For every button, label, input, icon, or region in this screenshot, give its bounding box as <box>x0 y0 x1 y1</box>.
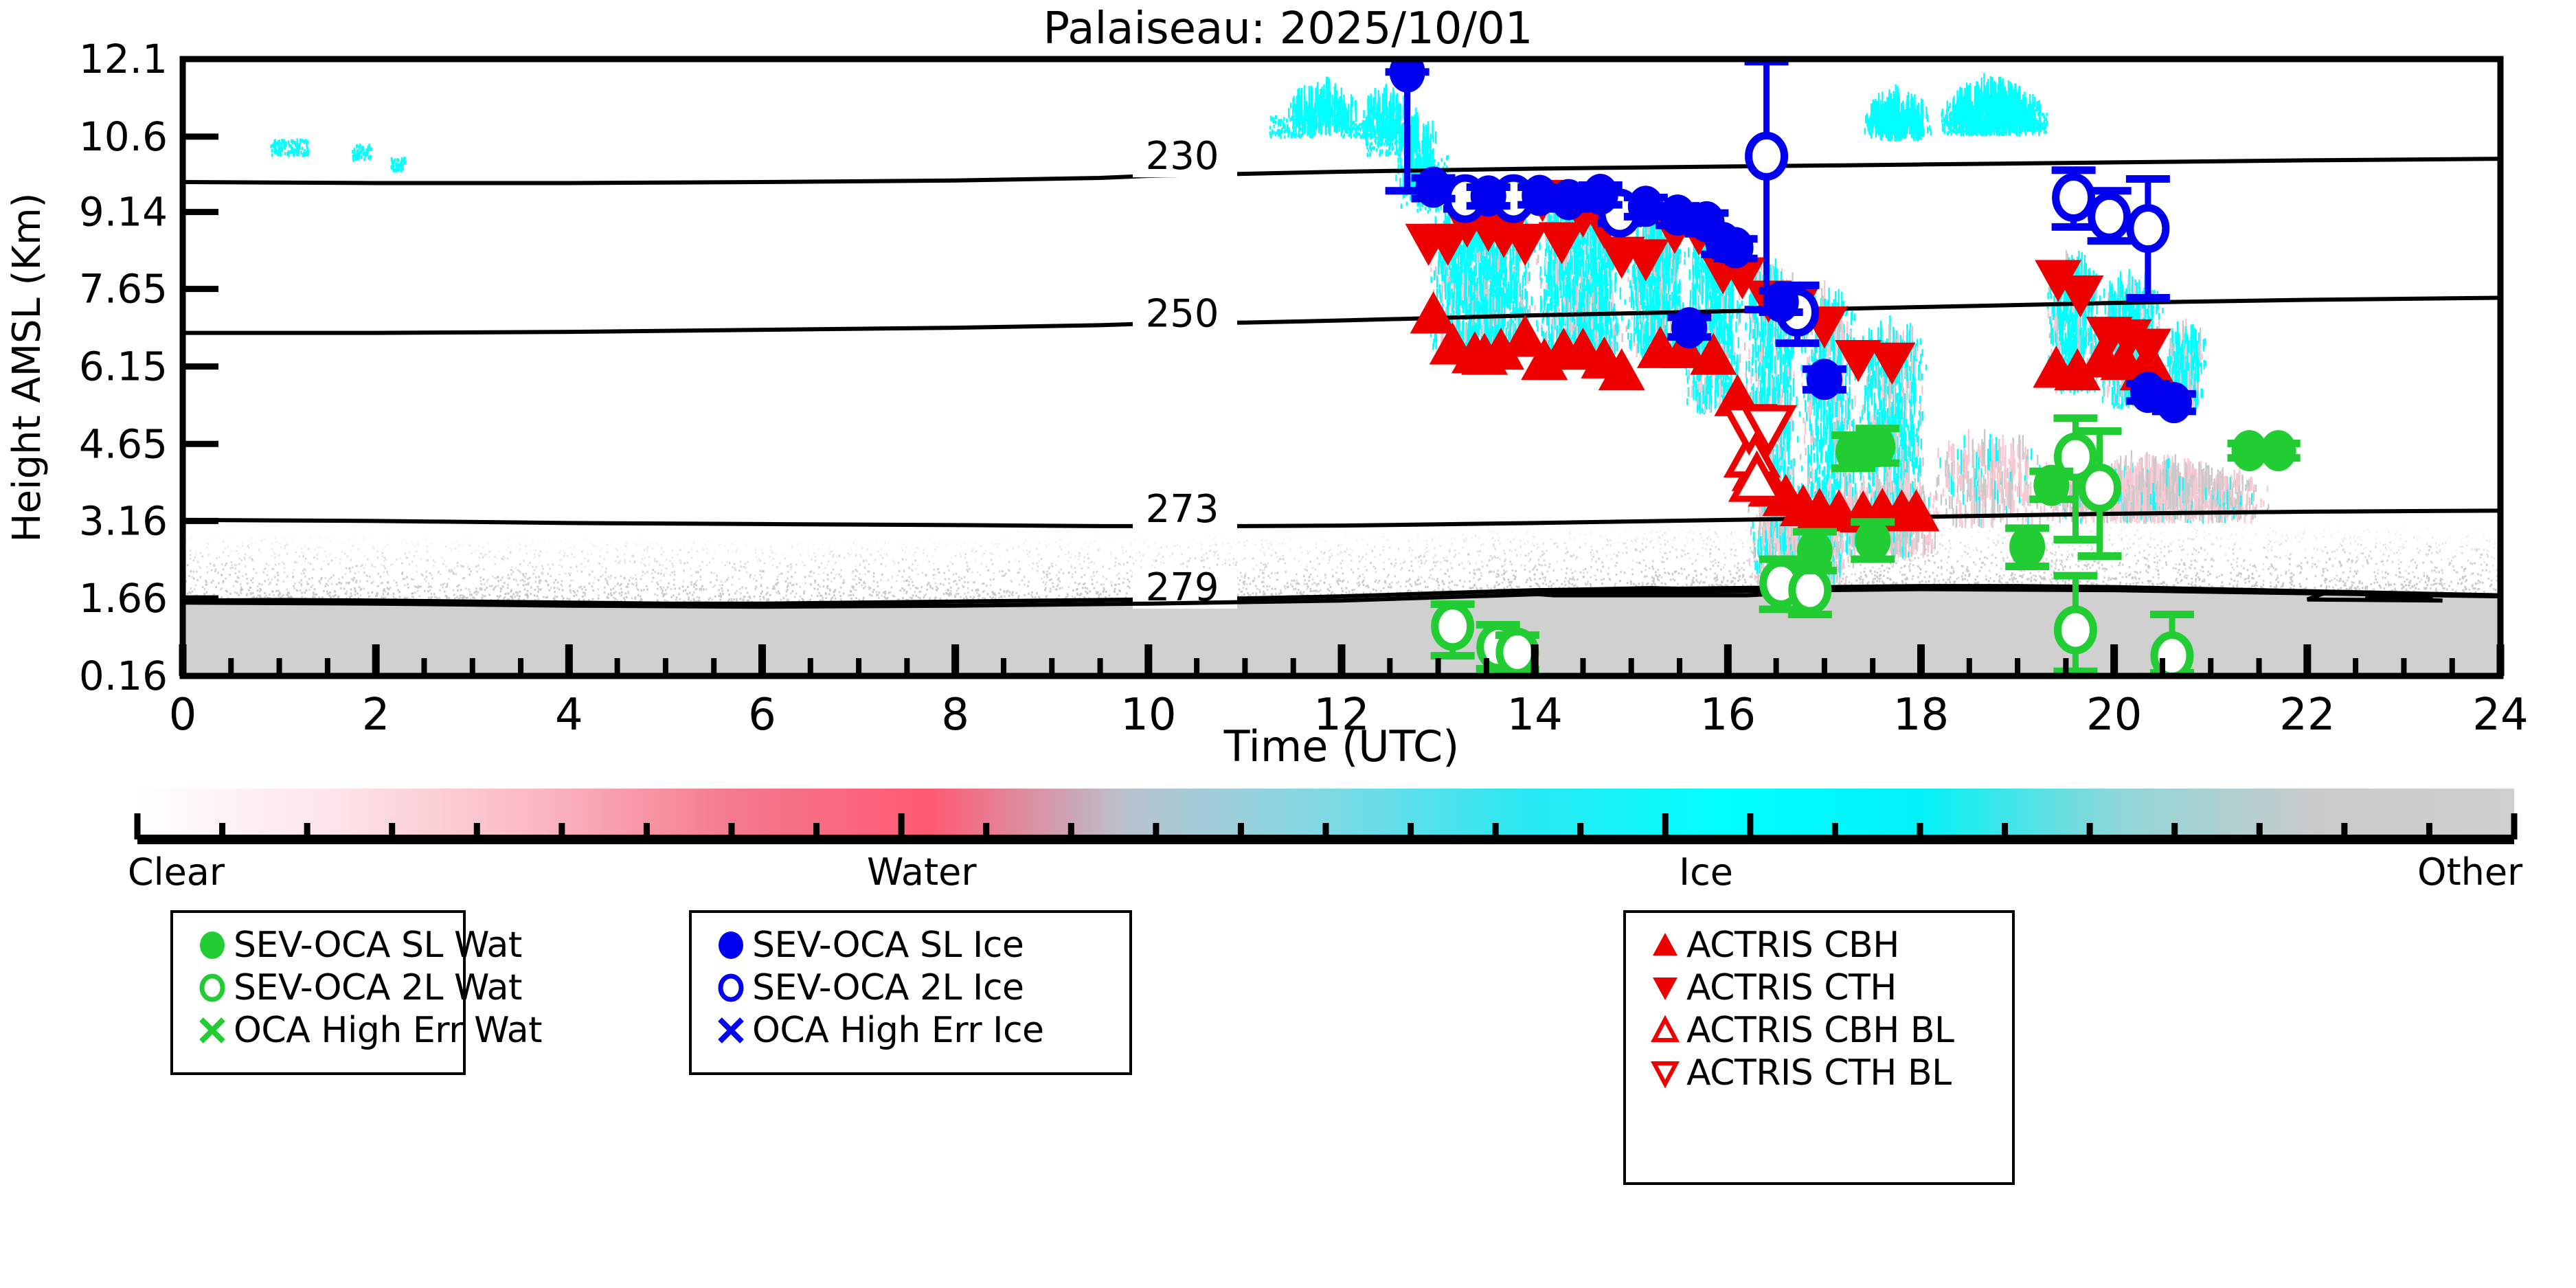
x-cross-icon <box>195 1013 229 1048</box>
legend-water: SEV-OCA SL Wat SEV-OCA 2L Wat OCA High E… <box>170 910 466 1075</box>
data-point-marker <box>1763 281 1799 322</box>
x-cross-icon <box>714 1013 748 1048</box>
x-tick-label: 14 <box>1506 690 1562 741</box>
x-tick-label: 0 <box>169 690 197 741</box>
y-tick-label: 12.1 <box>79 36 168 82</box>
open-down-triangle-icon <box>1648 1056 1682 1090</box>
filled-circle-icon <box>195 928 229 962</box>
legend-item: SEV-OCA SL Wat <box>173 924 463 967</box>
data-point-marker <box>2033 464 2069 506</box>
data-point-marker <box>1855 520 1890 561</box>
colorbar <box>0 783 2576 920</box>
legend-actris: ACTRIS CBH ACTRIS CTH ACTRIS CBH BL ACTR… <box>1623 910 2015 1185</box>
legend-item-label: ACTRIS CBH <box>1686 925 1899 966</box>
y-tick-label: 7.65 <box>79 266 168 313</box>
data-point-marker <box>2130 208 2166 249</box>
figure-canvas: Palaiseau: 2025/10/01 230250273279 0.161… <box>0 0 2576 1288</box>
y-axis-label: Height AMSL (Km) <box>5 192 49 542</box>
data-point-marker <box>1500 631 1535 673</box>
data-point-marker <box>1860 426 1895 467</box>
legend-item-label: ACTRIS CTH <box>1686 967 1897 1008</box>
data-point-marker <box>1792 569 1828 611</box>
y-tick-label: 6.15 <box>79 343 168 389</box>
legend-item-label: OCA High Err Wat <box>234 1010 542 1051</box>
x-tick-label: 22 <box>2279 690 2335 741</box>
filled-up-triangle-icon <box>1648 928 1682 962</box>
x-tick-label: 16 <box>1700 690 1756 741</box>
data-point-marker <box>2156 382 2192 423</box>
data-point-marker <box>1416 167 1451 208</box>
main-plot: 230250273279 0.161.663.164.656.157.659.1… <box>0 0 2576 769</box>
legend-item: SEV-OCA SL Ice <box>692 924 1129 967</box>
legend-item: ACTRIS CTH <box>1626 967 2012 1009</box>
open-circle-icon <box>195 971 229 1005</box>
colorbar-tick-label: Clear <box>128 850 225 894</box>
x-tick-label: 4 <box>555 690 583 741</box>
legend-item: ACTRIS CTH BL <box>1626 1052 2012 1094</box>
legend-ice: SEV-OCA SL Ice SEV-OCA 2L Ice OCA High E… <box>689 910 1132 1075</box>
legend-item: SEV-OCA 2L Ice <box>692 967 1129 1009</box>
legend-item-label: SEV-OCA 2L Ice <box>752 967 1024 1008</box>
x-tick-label: 20 <box>2086 690 2142 741</box>
x-tick-label: 8 <box>941 690 969 741</box>
data-point-marker <box>1583 174 1618 215</box>
legend-item-label: SEV-OCA SL Wat <box>234 925 522 966</box>
data-point-marker <box>2009 526 2045 567</box>
data-point-marker <box>1671 307 1707 348</box>
filled-circle-icon <box>714 928 748 962</box>
legend-item: ACTRIS CBH BL <box>1626 1009 2012 1052</box>
y-tick-label: 4.65 <box>79 420 168 467</box>
x-tick-label: 10 <box>1120 690 1176 741</box>
data-point-marker <box>2261 430 2296 471</box>
legend-item: OCA High Err Wat <box>173 1009 463 1052</box>
y-tick-label: 1.66 <box>79 575 168 622</box>
open-circle-icon <box>714 971 748 1005</box>
data-point-marker <box>2057 609 2093 651</box>
colorbar-tick-label: Water <box>867 850 977 894</box>
data-point-marker <box>1435 606 1471 647</box>
data-point-marker <box>1718 227 1754 269</box>
contour-label: 230 <box>1146 134 1219 179</box>
data-point-marker <box>2082 467 2118 508</box>
y-tick-label: 3.16 <box>79 497 168 544</box>
open-up-triangle-icon <box>1648 1013 1682 1048</box>
data-point-marker <box>1807 359 1842 400</box>
y-tick-label: 9.14 <box>79 189 168 236</box>
x-tick-label: 2 <box>362 690 390 741</box>
x-tick-label: 24 <box>2472 690 2528 741</box>
x-tick-label: 18 <box>1893 690 1949 741</box>
colorbar-tick-label: Ice <box>1679 850 1733 894</box>
colorbar-tick-label: Other <box>2417 850 2522 894</box>
x-tick-label: 6 <box>748 690 776 741</box>
y-tick-label: 0.16 <box>79 653 168 699</box>
contour-label: 273 <box>1146 487 1219 532</box>
contour-label: 250 <box>1146 292 1219 337</box>
legend-item-label: ACTRIS CTH BL <box>1686 1052 1952 1094</box>
y-tick-label: 10.6 <box>79 113 168 160</box>
legend-item-label: OCA High Err Ice <box>752 1010 1044 1051</box>
data-point-marker <box>2092 196 2127 237</box>
x-axis-label: Time (UTC) <box>1223 721 1460 769</box>
data-point-marker <box>1797 530 1833 572</box>
legend-item: OCA High Err Ice <box>692 1009 1129 1052</box>
filled-down-triangle-icon <box>1648 971 1682 1005</box>
legend-item: ACTRIS CBH <box>1626 924 2012 967</box>
legend-item-label: ACTRIS CBH BL <box>1686 1010 1954 1051</box>
data-point-marker <box>1471 175 1506 216</box>
legend-item-label: SEV-OCA 2L Wat <box>234 967 522 1008</box>
data-point-marker <box>2154 635 2190 677</box>
legend-item-label: SEV-OCA SL Ice <box>752 925 1024 966</box>
data-point-marker <box>2056 177 2092 218</box>
data-point-marker <box>1749 135 1785 177</box>
legend-item: SEV-OCA 2L Wat <box>173 967 463 1009</box>
